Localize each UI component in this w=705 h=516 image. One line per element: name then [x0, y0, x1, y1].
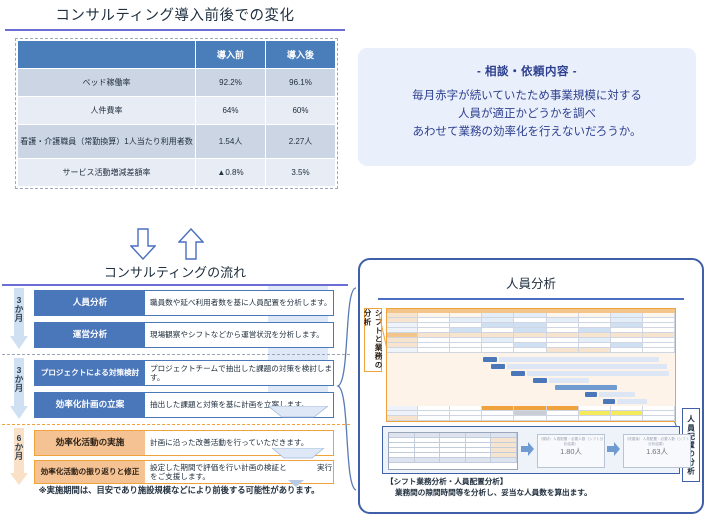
- row-before-value: ▲0.8%: [196, 159, 266, 187]
- title-underline: [5, 29, 345, 31]
- flow-step-6-desc: 設定した期間で評価を行い計画の検証と 実行をご支援します。: [145, 460, 334, 484]
- transition-arrows: [130, 228, 220, 262]
- row-label: ベッド稼働率: [18, 69, 196, 97]
- flow-to-panel-brace-icon: [336, 286, 360, 496]
- flow-step-1-label: 人員分析: [34, 290, 145, 316]
- flow-step-4-label: 効率化計画の立案: [34, 392, 145, 418]
- consulting-flow-diagram: 3か月 人員分析 職員数や延べ利用者数を基に人員配置を分析します。 運営分析 現…: [0, 288, 352, 510]
- row-after-value: 2.27人: [266, 125, 336, 159]
- row-label: サービス活動増減差額率: [18, 159, 196, 187]
- table-row: 看護・介護職員（常勤換算）1人当たり利用者数 1.54人 2.27人: [18, 125, 336, 159]
- spreadsheet-row: [387, 348, 675, 353]
- row-label: 看護・介護職員（常勤換算）1人当たり利用者数: [18, 125, 196, 159]
- col-header-blank: [18, 41, 196, 69]
- slide-root: コンサルティング導入前後での変化 導入前 導入後 ベッド稼働率 92.2% 96…: [0, 0, 705, 516]
- flow-step-2-label: 運営分析: [34, 322, 145, 348]
- panel-footnote: 【シフト業務分析・人員配置分析】 業務間の隙間時間等を分析し、妥当な人員数を算出…: [386, 476, 676, 498]
- staffing-value-caption-2: （改善後）人員配置・必要人数（シフト分析結果）: [624, 437, 690, 447]
- comparison-table-wrap: 導入前 導入後 ベッド稼働率 92.2% 96.1% 人件費率 64% 60% …: [17, 40, 335, 187]
- row-before-value: 1.54人: [196, 125, 266, 159]
- consultation-title: - 相談・依頼内容 -: [358, 63, 696, 79]
- flow-step-2-desc: 現場観察やシフトなどから運営状況を分析します。: [145, 322, 334, 348]
- flow-title: コンサルティングの流れ: [0, 262, 350, 281]
- comparison-title-block: コンサルティング導入前後での変化: [0, 4, 350, 31]
- table-row: 人件費率 64% 60%: [18, 97, 336, 125]
- row-before-value: 92.2%: [196, 69, 266, 97]
- comparison-table: 導入前 導入後 ベッド稼働率 92.2% 96.1% 人件費率 64% 60% …: [17, 40, 336, 187]
- flow-step-3-label: プロジェクトによる対策検討: [34, 360, 145, 386]
- consultation-body: 毎月赤字が続いていたため事業規模に対する 人員が適正かどうかを調べ あわせて業務…: [358, 88, 696, 141]
- staffing-value-caption-1: （現状）人員配置・必要人数（シフト分析結果）: [538, 437, 604, 447]
- staffing-summary-strip: （現状）人員配置・必要人数（シフト分析結果） 1.80人 （改善後）人員配置・必…: [382, 426, 680, 474]
- down-arrow-icon: [130, 228, 156, 260]
- flow-step-2: 運営分析 現場観察やシフトなどから運営状況を分析します。: [34, 322, 334, 348]
- consultation-line-2: 人員が適正かどうかを調べ: [358, 106, 696, 124]
- up-arrow-icon: [178, 228, 204, 260]
- phase-1-duration: 3か月: [6, 296, 32, 324]
- staffing-value-2: 1.63人: [646, 446, 668, 457]
- row-after-value: 96.1%: [266, 69, 336, 97]
- flow-connector-chevron-1-icon: [268, 406, 328, 418]
- row-label: 人件費率: [18, 97, 196, 125]
- col-header-after: 導入後: [266, 41, 336, 69]
- flow-step-6-label: 効率化活動の振り返りと修正: [34, 460, 145, 484]
- flow-step-3: プロジェクトによる対策検討 プロジェクトチームで抽出した課題の対策を検討します。: [34, 360, 334, 386]
- staffing-value-box-1: （現状）人員配置・必要人数（シフト分析結果） 1.80人: [537, 434, 605, 468]
- table-row: ベッド稼働率 92.2% 96.1%: [18, 69, 336, 97]
- spreadsheet-grid: [387, 313, 675, 353]
- panel-title: 人員分析: [360, 273, 702, 292]
- phase-divider-2: [2, 424, 350, 425]
- flow-footnote: ※実施期間は、目安であり施設規模などにより前後する可能性があります。: [14, 484, 344, 496]
- phase-divider-1: [2, 354, 350, 355]
- panel-title-underline: [378, 298, 684, 300]
- row-before-value: 64%: [196, 97, 266, 125]
- row-after-value: 60%: [266, 97, 336, 125]
- table-row: サービス活動増減差額率 ▲0.8% 3.5%: [18, 159, 336, 187]
- flow-step-1-desc: 職員数や延べ利用者数を基に人員配置を分析します。: [145, 290, 334, 316]
- consultation-line-1: 毎月赤字が続いていたため事業規模に対する: [358, 88, 696, 106]
- staffing-value-1: 1.80人: [560, 446, 582, 457]
- panel-footnote-line-1: 【シフト業務分析・人員配置分析】: [386, 476, 676, 487]
- flow-arrow-1-icon: [521, 442, 534, 456]
- flow-step-1: 人員分析 職員数や延べ利用者数を基に人員配置を分析します。: [34, 290, 334, 316]
- personnel-analysis-panel: 人員分析 現場観察やシフトを分析することで業務内の課題を抽出します。 シフトと業…: [358, 258, 704, 514]
- consultation-line-3: あわせて業務の効率化を行えないだろうか。: [358, 124, 696, 142]
- panel-footnote-line-2: 業務間の隙間時間等を分析し、妥当な人員数を算出ます。: [386, 487, 676, 498]
- phase-3-duration: 6か月: [6, 434, 32, 462]
- staffing-value-box-2: （改善後）人員配置・必要人数（シフト分析結果） 1.63人: [623, 434, 691, 468]
- flow-title-block: コンサルティングの流れ: [0, 262, 350, 286]
- spreadsheet-bottom-grid: [387, 406, 675, 421]
- table-header-row: 導入前 導入後: [18, 41, 336, 69]
- consultation-request-box: - 相談・依頼内容 - 毎月赤字が続いていたため事業規模に対する 人員が適正かど…: [358, 48, 696, 166]
- flow-arrow-2-icon: [607, 442, 620, 456]
- spreadsheet-row: [387, 416, 675, 421]
- shift-spreadsheet-mock: [386, 308, 676, 422]
- flow-step-5-label: 効率化活動の実施: [34, 430, 145, 456]
- col-header-before: 導入前: [196, 41, 266, 69]
- flow-connector-chevron-2-icon: [272, 448, 324, 459]
- row-after-value: 3.5%: [266, 159, 336, 187]
- phase-2-duration: 3か月: [6, 366, 32, 394]
- staffing-mini-table-left: [388, 432, 518, 470]
- page-title: コンサルティング導入前後での変化: [0, 4, 350, 25]
- flow-step-3-desc: プロジェクトチームで抽出した課題の対策を検討します。: [145, 360, 334, 386]
